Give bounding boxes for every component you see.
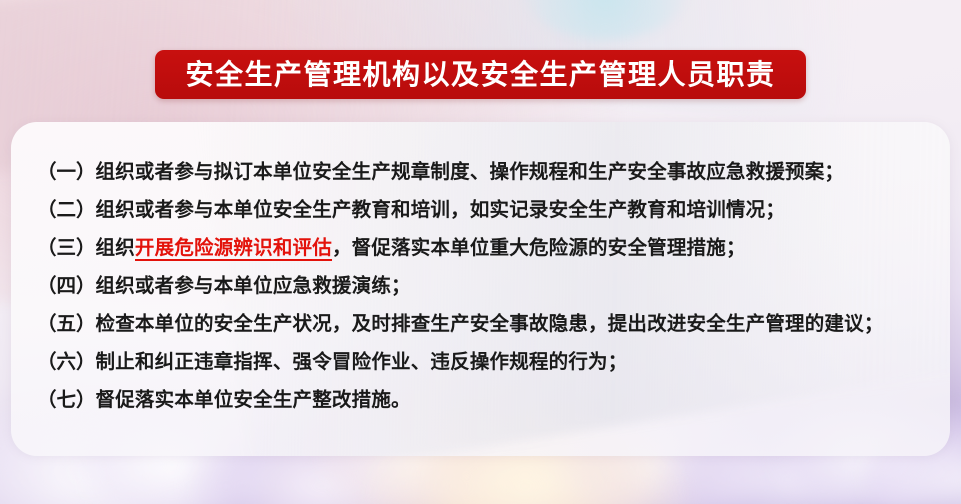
clause-marker: （四） [37, 274, 96, 297]
clause-marker: （七） [37, 388, 96, 411]
clause-text: 督促落实本单位安全生产整改措施。 [96, 388, 411, 411]
clause-text: 组织或者参与本单位安全生产教育和培训，如实记录安全生产教育和培训情况； [96, 198, 786, 221]
clause-marker: （六） [37, 350, 96, 373]
clause-item-4: （四）组织或者参与本单位应急救援演练； [37, 267, 924, 305]
title-banner: 安全生产管理机构以及安全生产管理人员职责 [155, 50, 806, 99]
clause-text: 组织 [96, 236, 135, 259]
content-panel: （一）组织或者参与拟订本单位安全生产规章制度、操作规程和生产安全事故应急救援预案… [11, 122, 950, 456]
clause-list: （一）组织或者参与拟订本单位安全生产规章制度、操作规程和生产安全事故应急救援预案… [11, 122, 950, 419]
clause-marker: （一） [37, 160, 96, 183]
clause-text: 检查本单位的安全生产状况，及时排查生产安全事故隐患，提出改进安全生产管理的建议； [96, 312, 884, 335]
clause-item-3: （三）组织开展危险源辨识和评估，督促落实本单位重大危险源的安全管理措施； [37, 229, 924, 267]
clause-text-tail: ，督促落实本单位重大危险源的安全管理措施； [332, 236, 746, 259]
clause-text: 组织或者参与拟订本单位安全生产规章制度、操作规程和生产安全事故应急救援预案； [96, 160, 845, 183]
clause-marker: （五） [37, 312, 96, 335]
clause-item-7: （七）督促落实本单位安全生产整改措施。 [37, 381, 924, 419]
page-title: 安全生产管理机构以及安全生产管理人员职责 [185, 61, 775, 89]
clause-text: 制止和纠正违章指挥、强令冒险作业、违反操作规程的行为； [96, 350, 628, 373]
clause-item-1: （一）组织或者参与拟订本单位安全生产规章制度、操作规程和生产安全事故应急救援预案… [37, 153, 924, 191]
clause-item-2: （二）组织或者参与本单位安全生产教育和培训，如实记录安全生产教育和培训情况； [37, 191, 924, 229]
clause-marker: （二） [37, 198, 96, 221]
clause-highlighted-text: 开展危险源辨识和评估 [135, 236, 332, 261]
clause-item-6: （六）制止和纠正违章指挥、强令冒险作业、违反操作规程的行为； [37, 343, 924, 381]
clause-marker: （三） [37, 236, 96, 259]
slide-canvas: 安全生产管理机构以及安全生产管理人员职责 （一）组织或者参与拟订本单位安全生产规… [0, 0, 961, 504]
clause-text: 组织或者参与本单位应急救援演练； [96, 274, 411, 297]
clause-item-5: （五）检查本单位的安全生产状况，及时排查生产安全事故隐患，提出改进安全生产管理的… [37, 305, 924, 343]
